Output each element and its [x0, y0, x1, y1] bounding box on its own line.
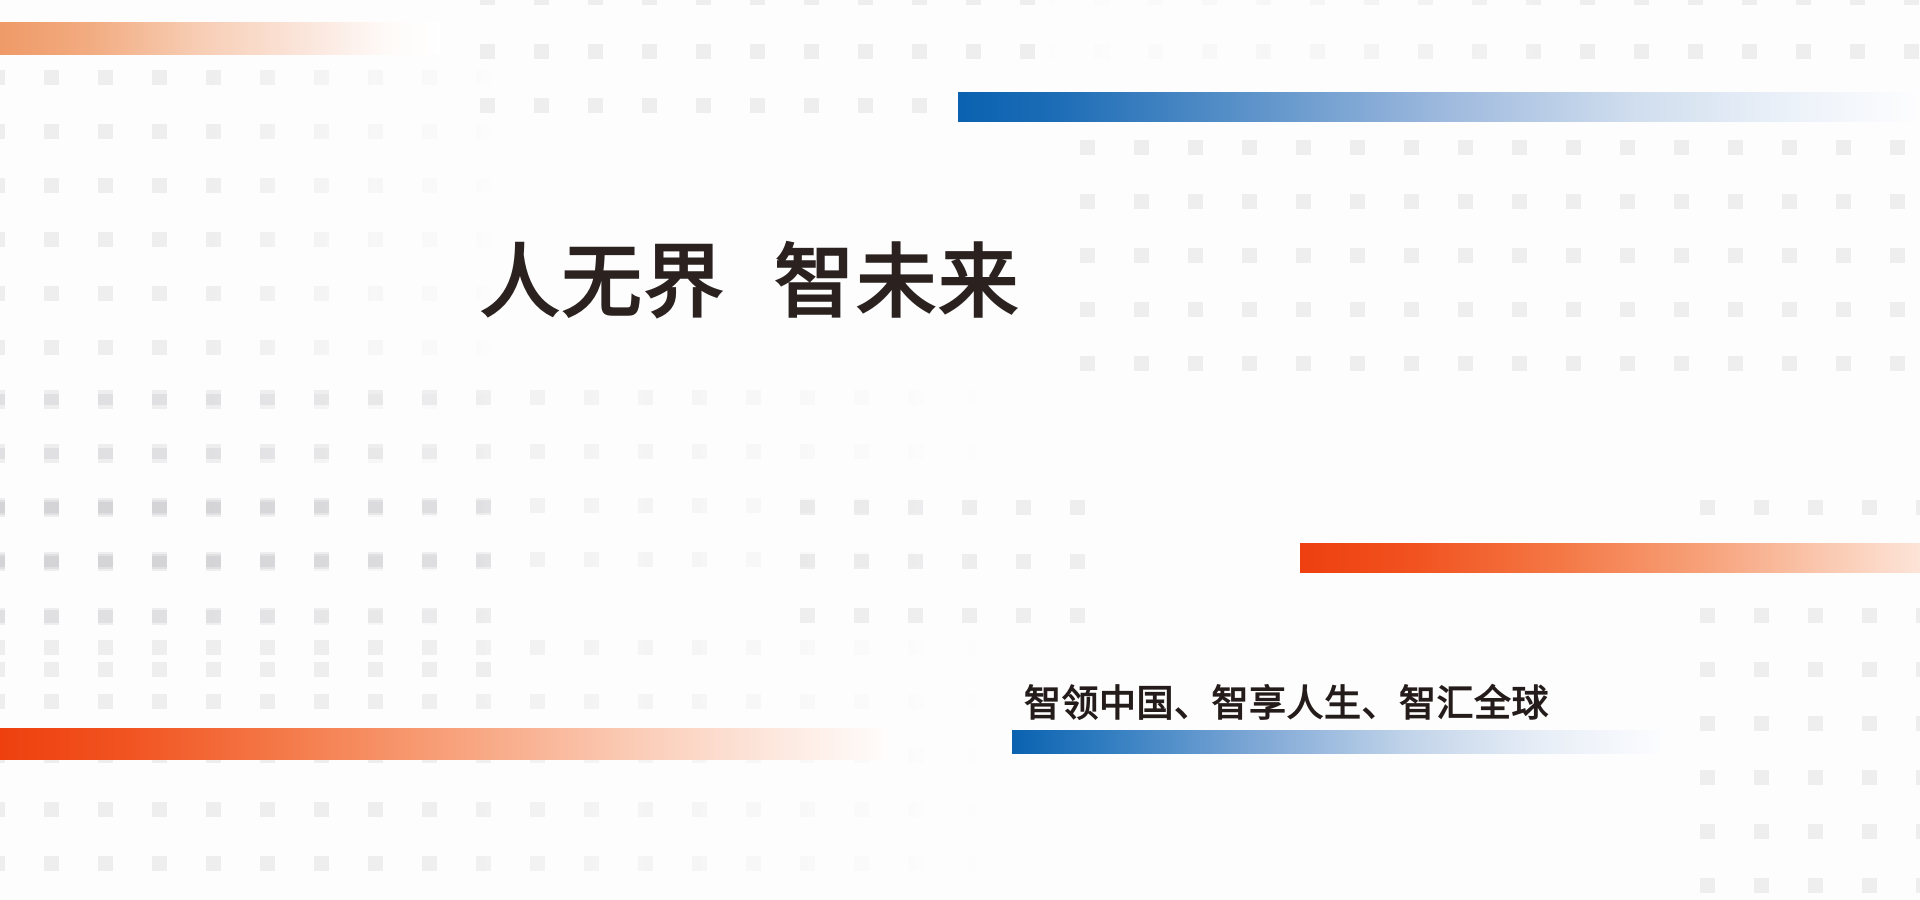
top-left-orange-bar [0, 22, 440, 55]
mid-right-orange-bar [1300, 543, 1920, 573]
subtitle-text: 智领中国、智享人生、智汇全球 [1012, 683, 1672, 724]
dot-pattern-top-left [0, 70, 510, 630]
bottom-left-orange-bar [0, 728, 890, 760]
dot-pattern-bottom [0, 640, 990, 900]
subtitle-underline-blue-bar [1012, 730, 1660, 754]
dot-pattern-left-lower [0, 500, 510, 700]
dot-pattern-top-right [1040, 0, 1920, 110]
dot-pattern-right-mid [800, 500, 1100, 660]
subtitle-block: 智领中国、智享人生、智汇全球 [1012, 683, 1672, 754]
dot-pattern-bottom-right [1700, 500, 1920, 900]
presentation-slide: 人无界 智未来 智领中国、智享人生、智汇全球 [0, 0, 1920, 900]
page-title: 人无界 智未来 [0, 243, 1500, 323]
dot-pattern-top-center [480, 0, 1040, 120]
top-right-blue-bar [958, 92, 1920, 122]
dot-pattern-left-mid [0, 390, 990, 570]
